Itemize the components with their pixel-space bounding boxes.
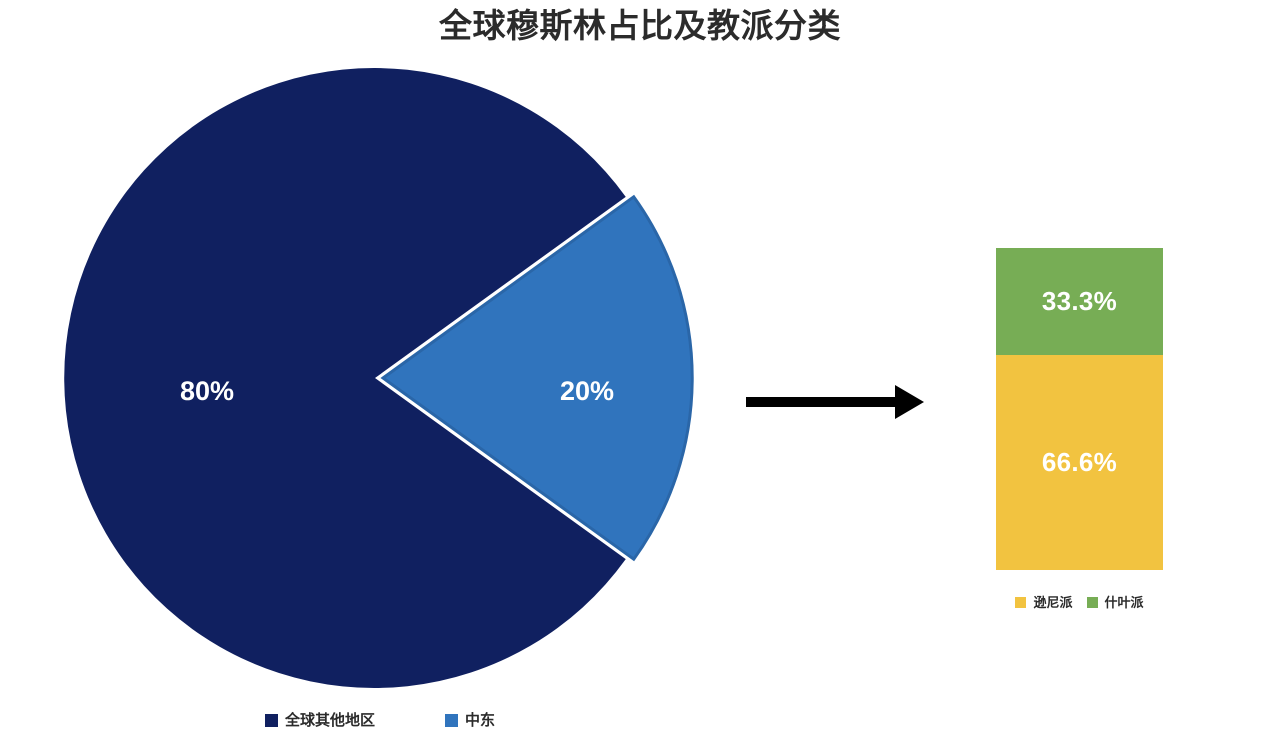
pie-label-middle-east: 20% bbox=[560, 376, 614, 406]
bar-label-shia: 33.3% bbox=[1042, 286, 1117, 317]
legend-swatch-icon bbox=[1087, 597, 1098, 608]
stacked-bar-chart: 33.3% 66.6% bbox=[996, 248, 1163, 570]
pie-chart: 80% 20% bbox=[0, 0, 760, 700]
bar-legend-item-sunni[interactable]: 逊尼派 bbox=[1015, 596, 1072, 609]
legend-swatch-icon bbox=[445, 714, 458, 727]
pie-legend-label-other-regions: 全球其他地区 bbox=[285, 713, 375, 728]
bar-legend-label-shia: 什叶派 bbox=[1105, 596, 1144, 609]
bar-segment-shia[interactable]: 33.3% bbox=[996, 248, 1163, 355]
pie-label-other-regions: 80% bbox=[180, 376, 234, 406]
bar-legend-label-sunni: 逊尼派 bbox=[1033, 596, 1072, 609]
pie-legend-item-other-regions[interactable]: 全球其他地区 bbox=[265, 713, 375, 728]
bar-label-sunni: 66.6% bbox=[1042, 447, 1117, 478]
pie-chart-svg: 80% 20% bbox=[0, 0, 760, 700]
pie-legend: 全球其他地区 中东 bbox=[0, 713, 760, 728]
legend-swatch-icon bbox=[1015, 597, 1026, 608]
right-arrow-icon bbox=[740, 382, 930, 422]
bar-segment-sunni[interactable]: 66.6% bbox=[996, 355, 1163, 570]
pie-legend-label-middle-east: 中东 bbox=[465, 713, 495, 728]
bar-legend-item-shia[interactable]: 什叶派 bbox=[1087, 596, 1144, 609]
bar-legend: 逊尼派 什叶派 bbox=[996, 596, 1163, 609]
pie-legend-item-middle-east[interactable]: 中东 bbox=[445, 713, 495, 728]
legend-swatch-icon bbox=[265, 714, 278, 727]
